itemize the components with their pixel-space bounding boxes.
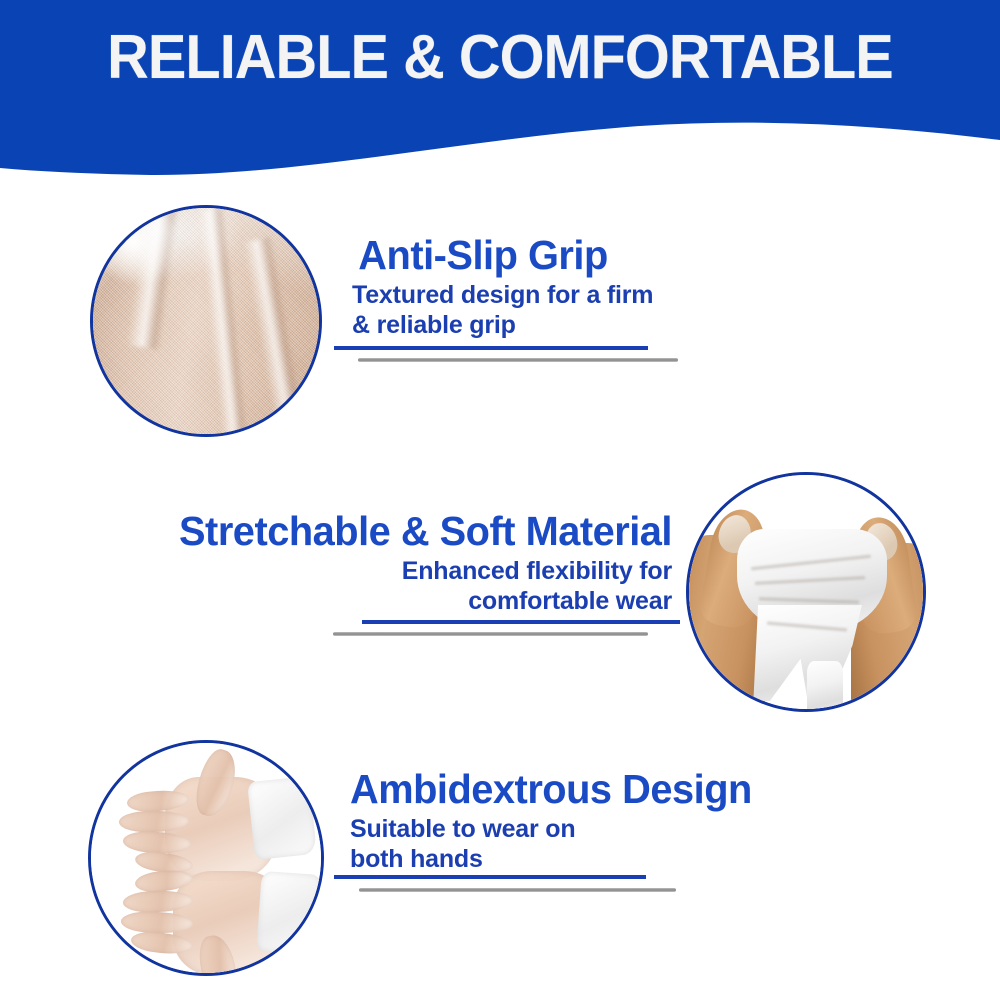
feature-rule-gray <box>333 632 648 636</box>
glove-crease-3 <box>759 597 859 603</box>
left-hand-palm <box>686 535 765 712</box>
feature-image-stretchable-soft-material <box>686 472 926 712</box>
right-thumb-nail <box>862 521 900 564</box>
lower-glove-cuff <box>256 871 323 955</box>
feature-rule-blue <box>334 875 646 879</box>
upper-finger-2 <box>119 810 189 832</box>
feature-image-ambidextrous-design <box>88 740 324 976</box>
feature-subtitle: Enhanced flexibility for comfortable wea… <box>72 556 672 616</box>
feature-rule-gray <box>358 358 678 362</box>
feature-text-stretchable-soft-material: Stretchable & Soft Material Enhanced fle… <box>72 508 672 616</box>
glove-crease-2 <box>755 576 865 585</box>
glove-crease-4 <box>767 622 847 632</box>
right-hand-palm <box>851 543 926 712</box>
lower-gloved-palm <box>173 871 287 975</box>
glove-finger-stub <box>807 661 843 712</box>
stretched-glove <box>737 529 887 633</box>
feature-title: Stretchable & Soft Material <box>90 508 672 554</box>
lower-thumb <box>195 932 242 976</box>
upper-finger-4 <box>134 850 194 876</box>
glove-crease-1 <box>751 555 871 571</box>
feature-rule-blue <box>362 620 680 624</box>
fabric-fold-2 <box>199 207 250 437</box>
fabric-highlight-top <box>97 214 187 284</box>
fabric-fold-1 <box>127 205 182 350</box>
left-thumb-nail <box>715 512 754 556</box>
right-thumb <box>849 514 919 636</box>
feature-text-anti-slip-grip: Anti-Slip Grip Textured design for a fir… <box>352 232 772 340</box>
lower-finger-1 <box>134 868 194 894</box>
header-banner: RELIABLE & COMFORTABLE <box>0 0 1000 185</box>
feature-title: Ambidextrous Design <box>350 766 835 812</box>
page-title: RELIABLE & COMFORTABLE <box>35 22 965 94</box>
feature-subtitle: Suitable to wear on both hands <box>350 814 850 874</box>
fabric-texture-art <box>93 208 319 434</box>
feature-image-anti-slip-grip <box>90 205 322 437</box>
fabric-fold-3 <box>243 237 309 437</box>
lower-finger-3 <box>121 911 194 935</box>
upper-glove-cuff <box>247 776 317 860</box>
stretching-hands-art <box>689 475 923 709</box>
upper-thumb <box>190 746 241 821</box>
product-feature-infographic: RELIABLE & COMFORTABLE Anti-Slip Grip Te… <box>0 0 1000 1000</box>
gloved-hands-art <box>91 743 321 973</box>
glove-lower-body <box>751 605 869 701</box>
left-thumb <box>697 505 771 631</box>
feature-text-ambidextrous-design: Ambidextrous Design Suitable to wear on … <box>350 766 850 874</box>
lower-finger-2 <box>123 890 194 913</box>
feature-title: Anti-Slip Grip <box>358 232 765 278</box>
feature-rule-gray <box>359 888 676 892</box>
upper-finger-1 <box>126 789 189 813</box>
upper-finger-3 <box>122 830 191 855</box>
feature-rule-blue <box>334 346 648 350</box>
feature-subtitle: Textured design for a firm & reliable gr… <box>352 280 772 340</box>
upper-gloved-palm <box>165 777 277 881</box>
lower-finger-4 <box>130 930 194 956</box>
